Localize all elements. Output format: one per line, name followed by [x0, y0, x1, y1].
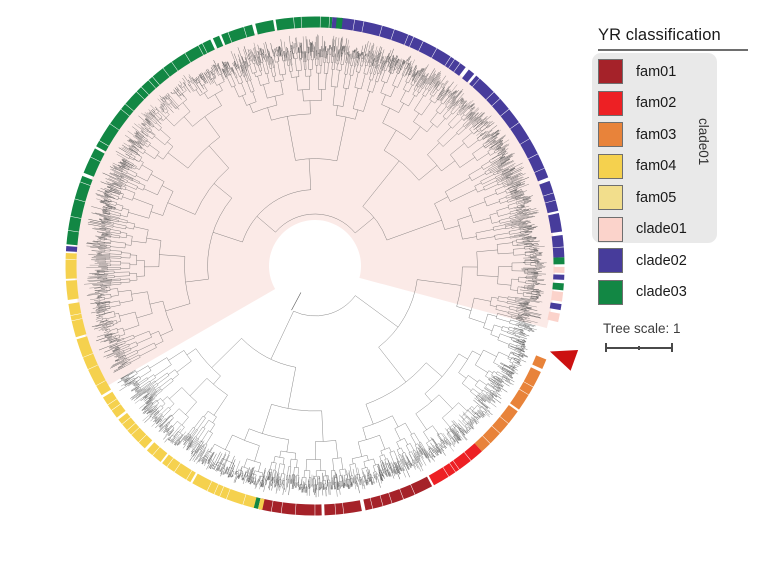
legend-label-fam03: fam03	[636, 127, 676, 143]
legend-item-clade01[interactable]: clade01	[598, 214, 758, 246]
legend-item-clade03[interactable]: clade03	[598, 277, 758, 309]
legend-swatch-clade01	[598, 217, 623, 242]
legend-item-clade02[interactable]: clade02	[598, 245, 758, 277]
legend-label-fam04: fam04	[636, 158, 676, 174]
legend-item-fam05[interactable]: fam05	[598, 182, 758, 214]
tree-scale: Tree scale: 1	[601, 321, 721, 352]
legend-label-clade02: clade02	[636, 253, 687, 269]
tree-scale-bar	[605, 343, 673, 352]
legend-swatch-fam04	[598, 154, 623, 179]
legend-swatch-fam01	[598, 59, 623, 84]
legend-items-list: fam01fam02fam03fam04fam05clade01clade02c…	[598, 56, 758, 308]
scale-tick-start	[605, 343, 607, 352]
legend-swatch-fam05	[598, 185, 623, 210]
clade01-group-label: clade01	[696, 118, 711, 165]
legend-title: YR classification	[598, 26, 721, 45]
legend-label-clade01: clade01	[636, 221, 687, 237]
legend-item-fam04[interactable]: fam04	[598, 151, 758, 183]
legend-label-fam02: fam02	[636, 95, 676, 111]
scale-tick-end	[671, 343, 673, 352]
legend-label-fam05: fam05	[636, 190, 676, 206]
legend-item-fam03[interactable]: fam03	[598, 119, 758, 151]
tree-scale-label: Tree scale: 1	[603, 321, 721, 336]
legend-title-divider	[598, 49, 748, 51]
legend-item-fam01[interactable]: fam01	[598, 56, 758, 88]
scale-tick-mid	[638, 346, 640, 350]
legend-label-clade03: clade03	[636, 284, 687, 300]
legend-swatch-clade03	[598, 280, 623, 305]
legend-swatch-clade02	[598, 248, 623, 273]
legend-item-fam02[interactable]: fam02	[598, 88, 758, 120]
legend-label-fam01: fam01	[636, 64, 676, 80]
legend-swatch-fam03	[598, 122, 623, 147]
legend-swatch-fam02	[598, 91, 623, 116]
